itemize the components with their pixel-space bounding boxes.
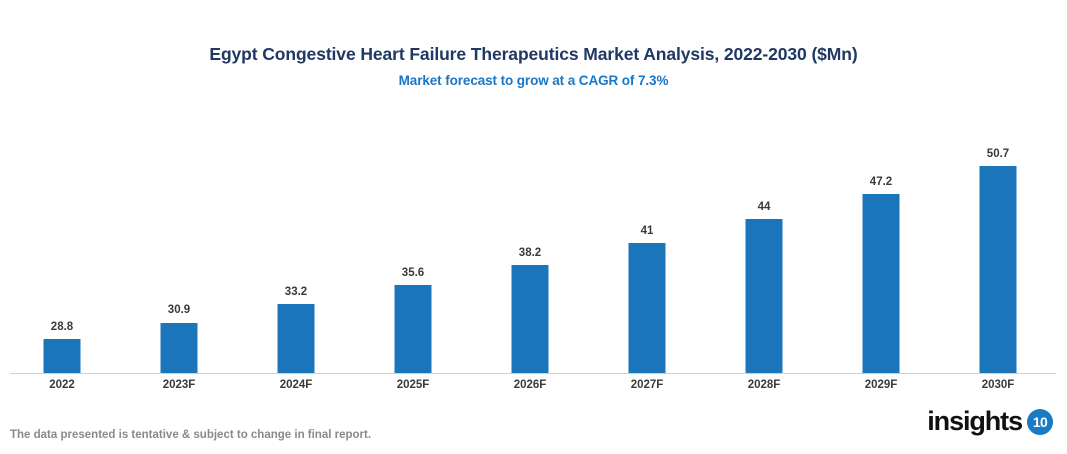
x-axis-tick-label: 2024F (280, 379, 313, 391)
bar-group: 412027F (589, 0, 706, 454)
bar-group: 47.22029F (823, 0, 940, 454)
x-axis-tick-label: 2025F (397, 379, 430, 391)
x-axis-tick-label: 2026F (514, 379, 547, 391)
bar[interactable] (980, 166, 1017, 373)
bar[interactable] (395, 285, 432, 373)
x-axis-tick-label: 2030F (982, 379, 1015, 391)
bar[interactable] (278, 304, 315, 373)
bar-value-label: 47.2 (870, 176, 892, 188)
plot-area: 28.8202230.92023F33.22024F35.62025F38.22… (0, 0, 1067, 454)
bar-group: 28.82022 (4, 0, 121, 454)
x-axis-tick-label: 2022 (49, 379, 75, 391)
bar-group: 38.22026F (472, 0, 589, 454)
bar[interactable] (863, 194, 900, 373)
bar[interactable] (746, 219, 783, 373)
bar[interactable] (629, 243, 666, 373)
x-axis-tick-label: 2027F (631, 379, 664, 391)
bar-group: 50.72030F (940, 0, 1057, 454)
bar-group: 30.92023F (121, 0, 238, 454)
bar[interactable] (161, 323, 198, 374)
bar-value-label: 44 (758, 201, 771, 213)
insights10-logo: insights 10 (927, 408, 1053, 435)
bar-value-label: 33.2 (285, 286, 307, 298)
bar-value-label: 35.6 (402, 267, 424, 279)
bar-value-label: 50.7 (987, 148, 1009, 160)
x-axis-tick-label: 2028F (748, 379, 781, 391)
x-axis-tick-label: 2029F (865, 379, 898, 391)
bar-value-label: 41 (641, 225, 654, 237)
bar[interactable] (44, 339, 81, 373)
bar-group: 442028F (706, 0, 823, 454)
logo-wordmark: insights (927, 408, 1022, 435)
bar-group: 35.62025F (355, 0, 472, 454)
footnote: The data presented is tentative & subjec… (10, 429, 371, 441)
bar-value-label: 28.8 (51, 321, 73, 333)
logo-badge-icon: 10 (1027, 409, 1053, 435)
chart-page: Egypt Congestive Heart Failure Therapeut… (0, 0, 1067, 454)
x-axis-tick-label: 2023F (163, 379, 196, 391)
bar[interactable] (512, 265, 549, 373)
bar-value-label: 38.2 (519, 247, 541, 259)
bar-value-label: 30.9 (168, 304, 190, 316)
bar-group: 33.22024F (238, 0, 355, 454)
